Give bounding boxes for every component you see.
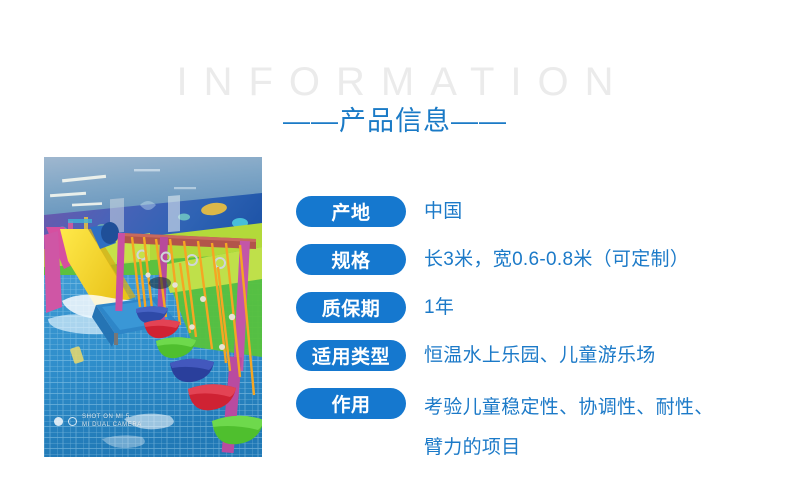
info-value-warranty: 1年 xyxy=(424,292,766,323)
page-title-chinese: ——产品信息—— xyxy=(0,104,790,138)
table-row: 适用类型 恒温水上乐园、儿童游乐场 xyxy=(296,340,766,371)
table-row: 作用 考验儿童稳定性、协调性、耐性、 臂力的项目 xyxy=(296,388,766,468)
info-label-specification: 规格 xyxy=(296,244,406,275)
info-label-origin: 产地 xyxy=(296,196,406,227)
info-label-warranty: 质保期 xyxy=(296,292,406,323)
product-photo-image xyxy=(44,157,262,457)
page-title-english: INFORMATION xyxy=(0,58,790,106)
info-label-application-type: 适用类型 xyxy=(296,340,406,371)
info-value-origin: 中国 xyxy=(424,196,766,227)
table-row: 规格 长3米，宽0.6-0.8米（可定制） xyxy=(296,244,766,275)
info-value-specification: 长3米，宽0.6-0.8米（可定制） xyxy=(424,244,766,275)
info-value-function: 考验儿童稳定性、协调性、耐性、 臂力的项目 xyxy=(424,388,766,468)
table-row: 质保期 1年 xyxy=(296,292,766,323)
product-photo: SHOT ON MI 5 MI DUAL CAMERA xyxy=(44,157,262,457)
table-row: 产地 中国 xyxy=(296,196,766,227)
info-label-function: 作用 xyxy=(296,388,406,419)
product-info-table: 产地 中国 规格 长3米，宽0.6-0.8米（可定制） 质保期 1年 适用类型 … xyxy=(296,196,766,485)
info-value-application-type: 恒温水上乐园、儿童游乐场 xyxy=(424,340,766,371)
